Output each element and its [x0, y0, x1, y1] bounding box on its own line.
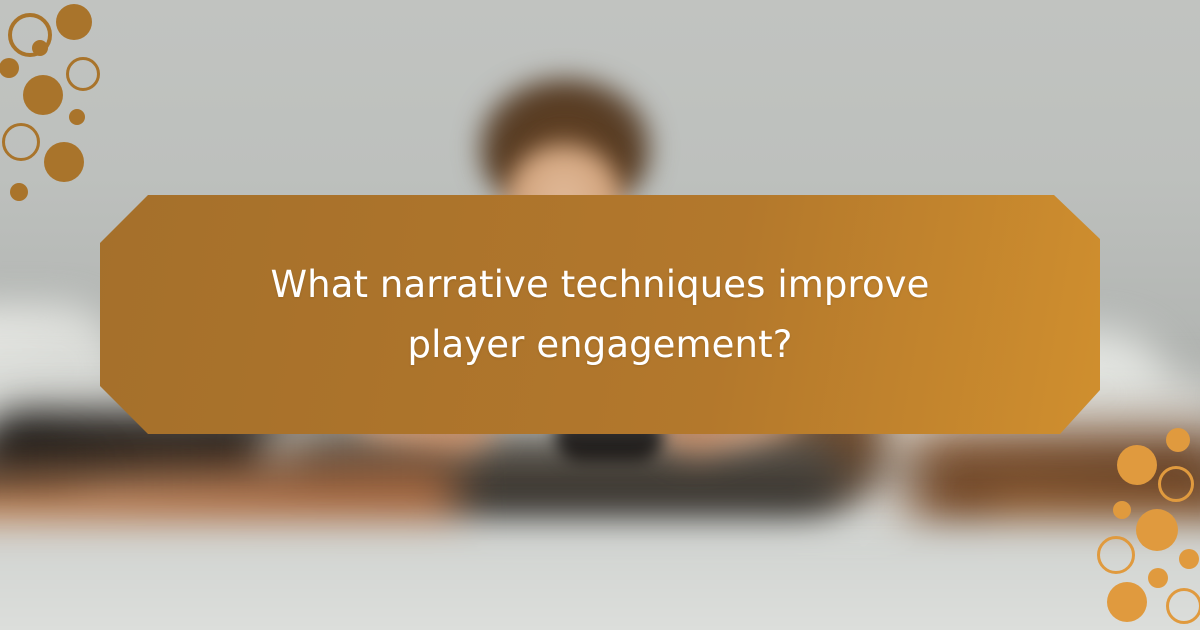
decoration-circle — [1179, 549, 1199, 569]
decoration-circle — [56, 4, 92, 40]
decoration-circle — [1097, 536, 1135, 574]
decoration-circle — [44, 142, 84, 182]
question-text: What narrative techniques improve player… — [235, 255, 965, 375]
decoration-circle — [2, 123, 40, 161]
decoration-circle — [1113, 501, 1131, 519]
social-card: What narrative techniques improve player… — [0, 0, 1200, 630]
photo-shadow-band — [0, 456, 1200, 516]
decoration-circle — [1107, 582, 1147, 622]
decoration-circle — [66, 57, 100, 91]
decoration-circle — [0, 58, 19, 78]
decoration-circle — [1136, 509, 1178, 551]
decoration-circle — [1148, 568, 1168, 588]
decoration-circle — [1166, 428, 1190, 452]
decoration-circle — [23, 75, 63, 115]
decoration-circle — [1117, 445, 1157, 485]
question-banner: What narrative techniques improve player… — [100, 195, 1100, 434]
decoration-circle — [1158, 466, 1194, 502]
decoration-circle — [32, 40, 48, 56]
decoration-circle — [10, 183, 28, 201]
decoration-circle — [1166, 588, 1200, 624]
decoration-circle — [69, 109, 85, 125]
photo-floor-light — [0, 520, 1200, 630]
